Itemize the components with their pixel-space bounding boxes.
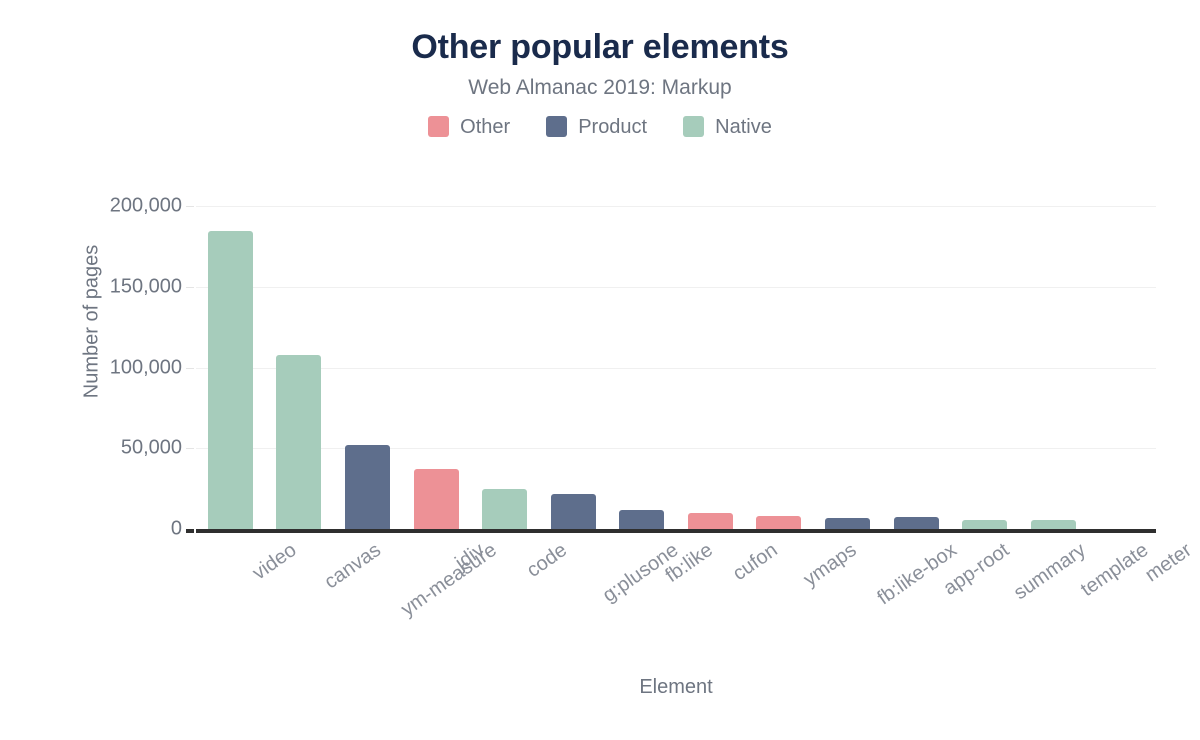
y-axis-tick-mark xyxy=(186,206,194,207)
bar[interactable] xyxy=(688,513,733,529)
legend-item-other[interactable]: Other xyxy=(428,116,510,137)
gridline xyxy=(196,287,1156,288)
y-axis-tick-label: 0 xyxy=(171,518,182,541)
x-axis-tick-label: fb:like xyxy=(661,539,717,588)
legend-swatch-other xyxy=(428,116,449,137)
legend-swatch-product xyxy=(546,116,567,137)
bar[interactable] xyxy=(825,518,870,529)
x-axis-tick-label: code xyxy=(522,539,571,583)
legend-label-other: Other xyxy=(460,117,510,137)
x-axis-tick-label: fb:like-box xyxy=(874,539,962,610)
x-axis-title: Element xyxy=(196,676,1156,699)
x-axis-tick-label: g:plusone xyxy=(599,539,683,608)
bar[interactable] xyxy=(756,516,801,529)
bar[interactable] xyxy=(482,489,527,529)
gridline xyxy=(196,368,1156,369)
x-axis-tick-label: meter xyxy=(1141,539,1196,587)
legend-item-native[interactable]: Native xyxy=(683,116,772,137)
y-axis-tick-label: 150,000 xyxy=(110,275,182,298)
x-axis-tick-label: ym-measure xyxy=(398,539,502,622)
y-axis-title: Number of pages xyxy=(81,222,104,422)
chart-title: Other popular elements xyxy=(0,28,1200,67)
y-axis-tick-mark xyxy=(186,368,194,369)
plot-area xyxy=(196,206,1156,529)
y-axis-tick-label: 100,000 xyxy=(110,356,182,379)
legend-label-product: Product xyxy=(578,117,647,137)
x-axis-tick-label: canvas xyxy=(320,539,385,594)
bar[interactable] xyxy=(551,494,596,529)
x-axis-tick-label: app-root xyxy=(939,539,1013,601)
bar[interactable] xyxy=(962,520,1007,529)
gridline xyxy=(196,206,1156,207)
bar[interactable] xyxy=(208,231,253,529)
x-axis-tick-label: template xyxy=(1077,539,1153,602)
y-axis-tick-mark xyxy=(186,287,194,288)
x-axis-tick-label: jdiv xyxy=(451,539,489,575)
bar[interactable] xyxy=(1031,520,1076,529)
x-axis-tick-label: summary xyxy=(1009,539,1090,605)
chart-header: Other popular elements Web Almanac 2019:… xyxy=(0,0,1200,137)
chart-legend: Other Product Native xyxy=(0,116,1200,137)
legend-label-native: Native xyxy=(715,117,772,137)
x-axis-tick-label: ymaps xyxy=(799,539,860,592)
gridline xyxy=(196,448,1156,449)
x-axis-baseline xyxy=(196,529,1156,533)
x-axis-tick-label: video xyxy=(249,539,301,585)
bar[interactable] xyxy=(619,510,664,529)
bar[interactable] xyxy=(276,355,321,529)
y-axis-tick-label: 200,000 xyxy=(110,195,182,218)
bar[interactable] xyxy=(894,517,939,529)
legend-item-product[interactable]: Product xyxy=(546,116,647,137)
y-axis-tick-mark xyxy=(186,529,194,533)
bar[interactable] xyxy=(414,469,459,529)
legend-swatch-native xyxy=(683,116,704,137)
x-axis-tick-label: cufon xyxy=(729,539,782,586)
y-axis-tick-label: 50,000 xyxy=(121,437,182,460)
bar[interactable] xyxy=(345,445,390,529)
y-axis-tick-mark xyxy=(186,448,194,449)
chart-subtitle: Web Almanac 2019: Markup xyxy=(0,75,1200,100)
